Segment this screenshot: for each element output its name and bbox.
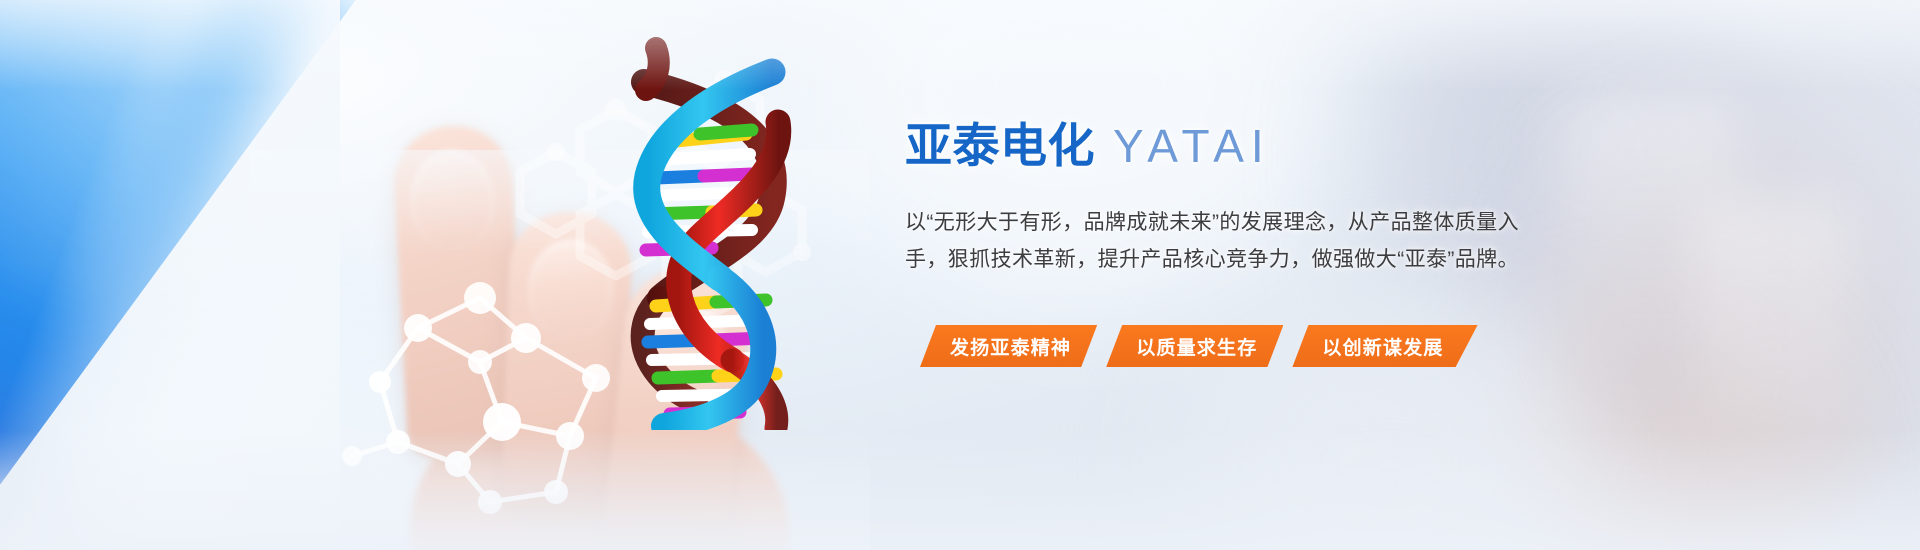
background-blob (1480, 330, 1810, 550)
banner-copy: 亚泰电化YATAI 以“无形大于有形，品牌成就未来”的发展理念，从产品整体质量入… (905, 118, 1605, 278)
slogan-tag-3[interactable]: 以创新谋发展 (1292, 325, 1477, 367)
slogan-tag-1[interactable]: 发扬亚泰精神 (920, 325, 1097, 367)
hero-banner: 亚泰电化YATAI 以“无形大于有形，品牌成就未来”的发展理念，从产品整体质量入… (0, 0, 1920, 550)
headline-english: YATAI (1113, 120, 1271, 172)
description-line-1: 以“无形大于有形，品牌成就未来”的发展理念，从产品整体质量入 (905, 205, 1605, 241)
background-blob (1700, 20, 1920, 380)
description-line-2: 手，狠抓技术革新，提升产品核心竞争力，做强做大“亚泰”品牌。 (905, 242, 1605, 278)
slogan-label: 以创新谋发展 (1322, 333, 1443, 360)
page-title: 亚泰电化YATAI (905, 118, 1605, 173)
slogan-tag-2[interactable]: 以质量求生存 (1106, 325, 1283, 367)
slogan-label: 以质量求生存 (1136, 333, 1257, 360)
banner-description: 以“无形大于有形，品牌成就未来”的发展理念，从产品整体质量入 手，狠抓技术革新，… (905, 205, 1605, 277)
blurred-glassware (1700, 200, 1850, 500)
slogan-label: 发扬亚泰精神 (950, 333, 1071, 360)
headline-chinese: 亚泰电化 (905, 119, 1095, 172)
background-blob (1560, 150, 1920, 550)
dna-helix-icon (600, 30, 820, 430)
slogan-ribbon-group: 发扬亚泰精神 以质量求生存 以创新谋发展 (920, 325, 1478, 367)
